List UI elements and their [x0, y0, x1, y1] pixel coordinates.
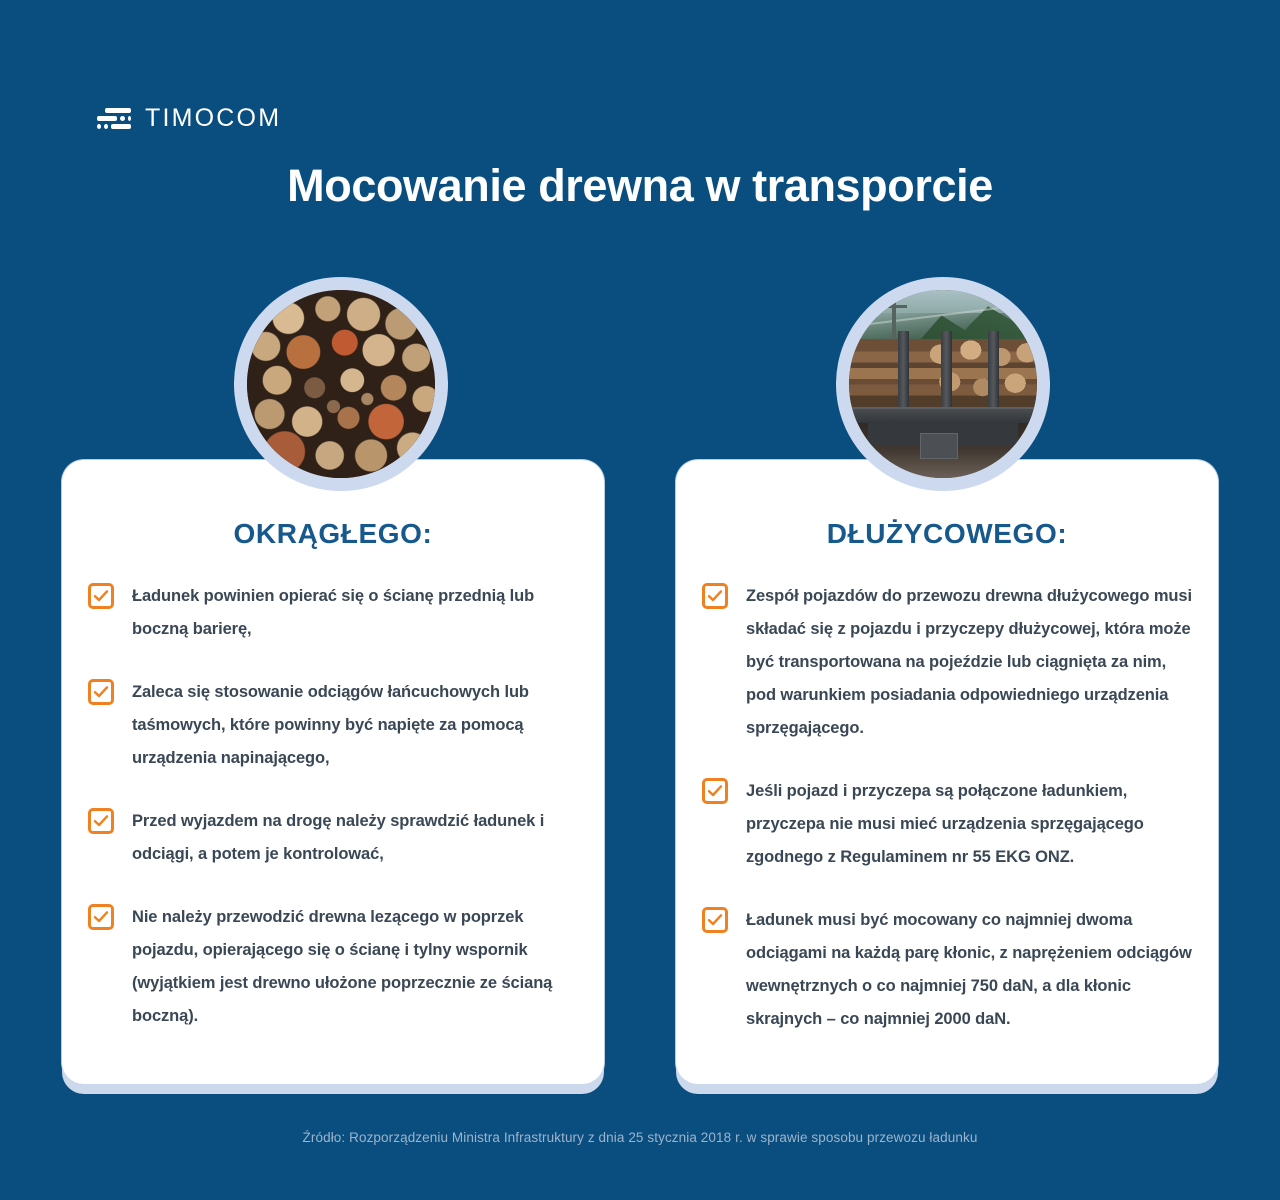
checkbox-checked-icon[interactable] — [88, 904, 114, 930]
list-item: Zaleca się stosowanie odciągów łańcuchow… — [88, 676, 578, 775]
card-long-timber: DŁUŻYCOWEGO: Zespół pojazdów do przewozu… — [676, 460, 1218, 1084]
long-timber-photo — [849, 290, 1037, 478]
brand-name: TIMOCOM — [145, 104, 281, 133]
list-item-text: Ładunek powinien opierać się o ścianę pr… — [132, 580, 578, 646]
checkbox-checked-icon[interactable] — [702, 583, 728, 609]
list-item: Ładunek musi być mocowany co najmniej dw… — [702, 904, 1192, 1036]
list-item-text: Zaleca się stosowanie odciągów łańcuchow… — [132, 676, 578, 775]
list-item-text: Zespół pojazdów do przewozu drewna dłuży… — [746, 580, 1192, 745]
list-item: Jeśli pojazd i przyczepa są połączone ła… — [702, 775, 1192, 874]
card-round-timber: OKRĄGŁEGO: Ładunek powinien opierać się … — [62, 460, 604, 1084]
checkbox-checked-icon[interactable] — [702, 907, 728, 933]
list-item-text: Ładunek musi być mocowany co najmniej dw… — [746, 904, 1192, 1036]
list-item: Przed wyjazdem na drogę należy sprawdzić… — [88, 805, 578, 871]
list-item-text: Jeśli pojazd i przyczepa są połączone ła… — [746, 775, 1192, 874]
railcar-illustration — [849, 290, 1037, 478]
source-note: Źródło: Rozporządzeniu Ministra Infrastr… — [0, 1130, 1280, 1145]
timocom-speedlines-icon — [97, 106, 131, 132]
card-heading-round: OKRĄGŁEGO: — [62, 518, 604, 550]
round-logs-photo — [247, 290, 435, 478]
list-item: Zespół pojazdów do przewozu drewna dłuży… — [702, 580, 1192, 745]
image-long-timber — [836, 277, 1050, 491]
checkbox-checked-icon[interactable] — [702, 778, 728, 804]
list-item-text: Nie należy przewodzić drewna lezącego w … — [132, 901, 578, 1033]
checkbox-checked-icon[interactable] — [88, 679, 114, 705]
checkbox-checked-icon[interactable] — [88, 808, 114, 834]
checkbox-checked-icon[interactable] — [88, 583, 114, 609]
list-item-text: Przed wyjazdem na drogę należy sprawdzić… — [132, 805, 578, 871]
card-heading-long: DŁUŻYCOWEGO: — [676, 518, 1218, 550]
brand-logo: TIMOCOM — [97, 104, 281, 133]
list-item: Nie należy przewodzić drewna lezącego w … — [88, 901, 578, 1033]
rules-list-long: Zespół pojazdów do przewozu drewna dłuży… — [676, 580, 1218, 1036]
list-item: Ładunek powinien opierać się o ścianę pr… — [88, 580, 578, 646]
logs-stack-illustration — [247, 290, 435, 478]
page-title: Mocowanie drewna w transporcie — [0, 160, 1280, 212]
rules-list-round: Ładunek powinien opierać się o ścianę pr… — [62, 580, 604, 1033]
image-round-logs — [234, 277, 448, 491]
